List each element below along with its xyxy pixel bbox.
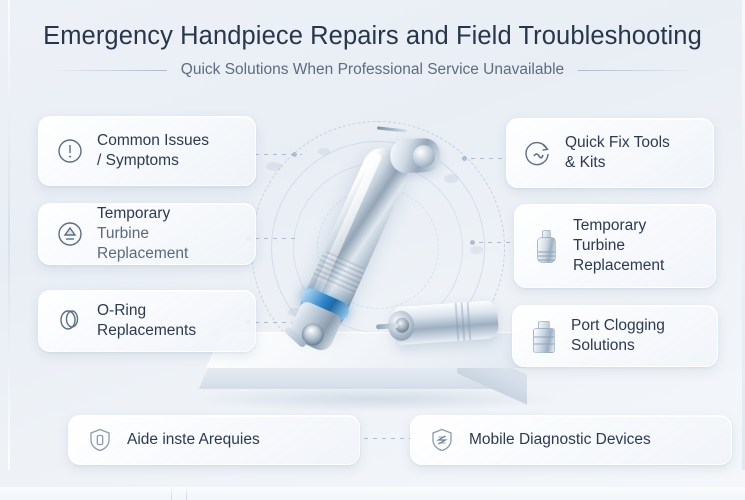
card-line-1: Common Issues	[97, 132, 209, 149]
card-label: Mobile Diagnostic Devices	[469, 430, 651, 450]
card-label: Aide inste Arequies	[127, 430, 260, 450]
connector-dot	[292, 152, 297, 157]
card-line-2: Turbine	[573, 237, 625, 254]
card-temporary-turbine-right[interactable]: Temporary Turbine Replacement	[514, 204, 716, 288]
card-line-1: Aide inste Arequies	[127, 431, 260, 448]
canister-icon-band	[534, 336, 554, 338]
header: Emergency Handpiece Repairs and Field Tr…	[0, 22, 745, 79]
cartridge-ridge	[467, 302, 472, 340]
connector-right-2	[470, 242, 516, 243]
handpiece-bur	[377, 126, 407, 132]
bottom-strip	[0, 487, 745, 500]
card-label: Temporary Turbine Replacement	[573, 216, 664, 275]
cartridge-icon-band	[538, 255, 555, 257]
card-label: Port Clogging Solutions	[571, 316, 665, 356]
blob-4	[470, 246, 483, 254]
card-label: Temporary Turbine Replacement	[97, 204, 239, 263]
cartridge-ridge	[461, 302, 466, 340]
bottom-divider-2	[186, 487, 187, 500]
infographic-canvas: Emergency Handpiece Repairs and Field Tr…	[0, 0, 745, 500]
subtitle-rule-right	[578, 70, 698, 71]
card-common-issues[interactable]: Common Issues / Symptoms	[38, 116, 256, 186]
connector-dot	[470, 240, 475, 245]
card-line-1: Port Clogging	[571, 317, 665, 334]
canister-icon-band	[534, 343, 554, 345]
card-line-2: Replacements	[97, 322, 196, 339]
subtitle-rule-left	[47, 70, 167, 71]
card-temporary-turbine-left[interactable]: Temporary Turbine Replacement	[38, 203, 256, 265]
card-line-1: Temporary	[97, 205, 170, 222]
connector-dot	[462, 156, 467, 161]
blob-1	[266, 162, 282, 171]
card-aide-inste-arequies[interactable]: Aide inste Arequies	[68, 415, 360, 465]
card-line-1: O-Ring	[97, 302, 146, 319]
blob-2	[318, 148, 330, 155]
connector-bottom	[364, 438, 412, 439]
cartridge-ridge	[455, 303, 460, 341]
shield-wave-icon	[427, 425, 457, 455]
refresh-wrench-circle-icon	[523, 138, 553, 168]
turbine-cartridge	[377, 296, 506, 351]
card-line-2: Turbine Replacement	[97, 225, 188, 262]
card-mobile-diagnostic-devices[interactable]: Mobile Diagnostic Devices	[410, 415, 732, 465]
cartridge-icon-body	[537, 237, 556, 263]
cartridge-icon-band	[538, 259, 555, 261]
card-line-2: & Kits	[565, 154, 605, 171]
o-ring-icon	[55, 306, 85, 336]
exclamation-circle-icon	[55, 136, 85, 166]
turbine-cartridge-icon	[531, 229, 561, 263]
card-line-2: / Symptoms	[97, 152, 179, 169]
page-title: Emergency Handpiece Repairs and Field Tr…	[0, 22, 745, 51]
page-subtitle: Quick Solutions When Professional Servic…	[181, 61, 564, 79]
card-o-ring-replacements[interactable]: O-Ring Replacements	[38, 290, 256, 352]
card-line-1: Mobile Diagnostic Devices	[469, 431, 651, 448]
upload-circle-icon	[55, 219, 85, 249]
blob-3	[444, 174, 459, 183]
card-label: Common Issues / Symptoms	[97, 131, 209, 171]
card-label: O-Ring Replacements	[97, 301, 196, 341]
card-quick-fix-tools[interactable]: Quick Fix Tools & Kits	[506, 118, 714, 188]
subtitle-row: Quick Solutions When Professional Servic…	[0, 61, 745, 79]
card-port-clogging[interactable]: Port Clogging Solutions	[512, 305, 718, 367]
canister-icon-body	[533, 328, 555, 353]
card-line-2: Solutions	[571, 337, 635, 354]
cartridge-icon-band	[538, 251, 555, 253]
card-line-3: Replacement	[573, 257, 664, 274]
card-line-1: Quick Fix Tools	[565, 134, 670, 151]
card-line-1: Temporary	[573, 217, 646, 234]
shield-tool-icon	[85, 425, 115, 455]
card-label: Quick Fix Tools & Kits	[565, 133, 670, 173]
canister-icon	[529, 319, 559, 353]
bottom-divider-1	[171, 487, 172, 500]
